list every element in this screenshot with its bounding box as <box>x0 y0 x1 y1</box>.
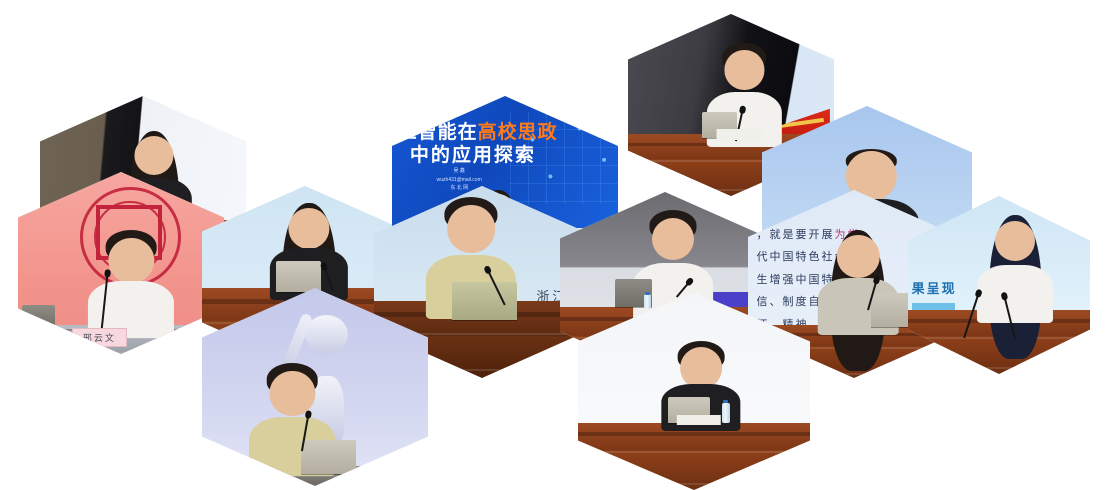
laptop <box>301 440 355 474</box>
banner-sub-2: wuzh431@mail.com <box>437 176 482 185</box>
mascot-head <box>305 315 348 354</box>
torso <box>977 265 1053 323</box>
lectern <box>578 423 810 490</box>
name-card <box>676 415 720 425</box>
slide-underline <box>912 303 956 310</box>
name-plate: 邢云文 <box>72 328 128 346</box>
speaker-figure <box>995 221 1035 317</box>
head <box>652 218 694 260</box>
head <box>995 221 1035 261</box>
banner-subtext: 吴 鑫 wuzh431@mail.com 东 北 网 <box>437 167 482 193</box>
slide-heading: 果呈现 <box>912 278 957 297</box>
banner-line-2: 中的应用探索 <box>410 140 536 167</box>
banner-sub-1: 吴 鑫 <box>437 167 482 176</box>
speaker-figure <box>109 238 154 333</box>
laptop <box>452 282 517 320</box>
head <box>725 50 764 89</box>
laptop <box>22 305 55 329</box>
name-card <box>717 129 762 140</box>
water-bottle <box>644 294 651 309</box>
collage-canvas: 1958 邢云文 <box>0 0 1108 490</box>
head <box>135 136 174 175</box>
laptop <box>276 261 321 292</box>
head <box>109 238 154 283</box>
head <box>447 205 495 253</box>
water-bottle <box>722 403 730 423</box>
slide-line-2-text: ，就是要开展 <box>756 229 834 241</box>
